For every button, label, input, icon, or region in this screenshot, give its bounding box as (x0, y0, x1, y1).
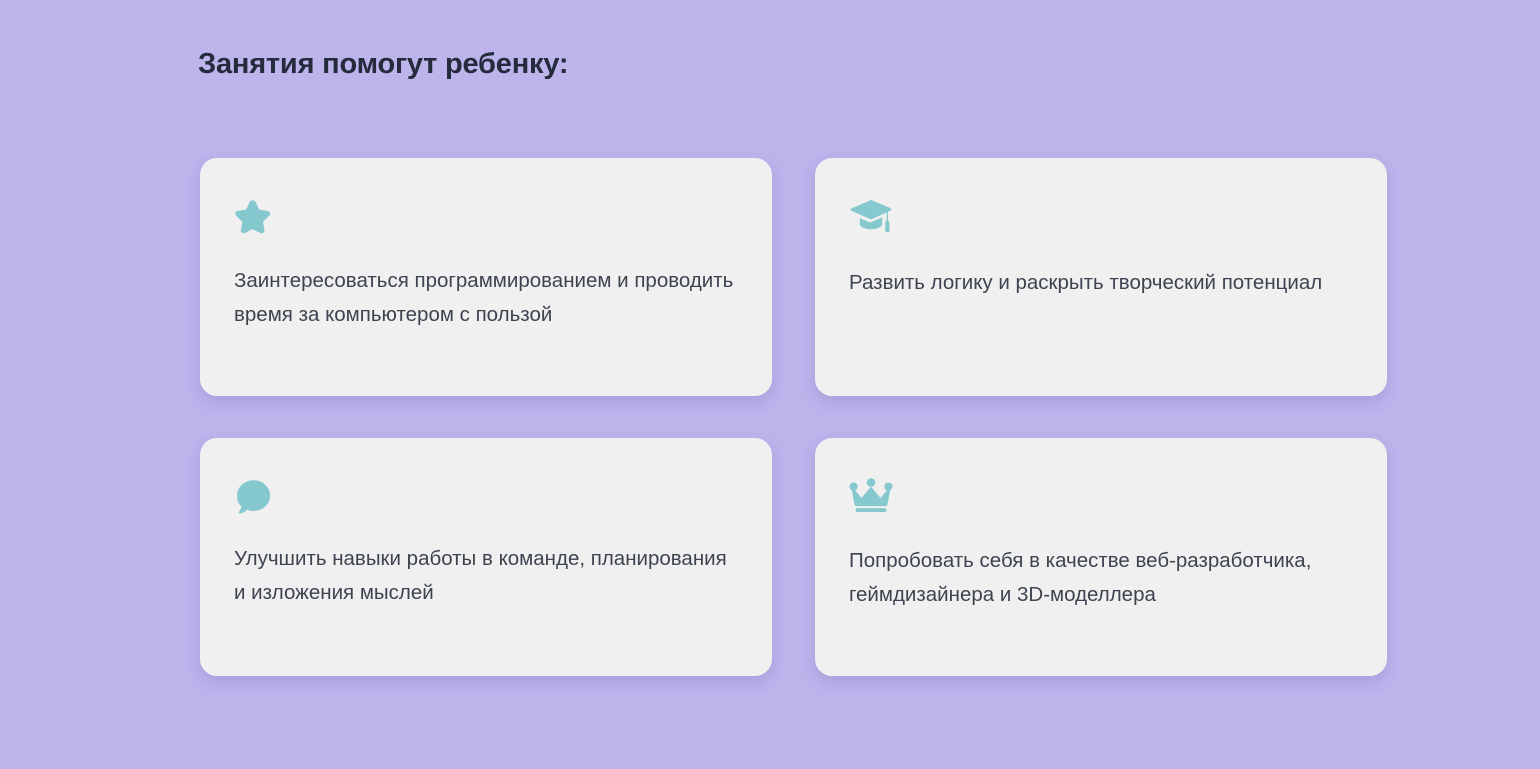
benefit-card-3[interactable]: Улучшить навыки работы в команде, планир… (200, 438, 772, 676)
benefits-section: Занятия помогут ребенку: Заинтересоватьс… (0, 0, 1540, 769)
benefit-card-1[interactable]: Заинтересоваться программированием и про… (200, 158, 772, 396)
benefits-card-grid: Заинтересоваться программированием и про… (200, 158, 1385, 676)
graduation-cap-icon (849, 198, 1351, 238)
star-icon (234, 198, 736, 238)
benefit-card-text: Развить логику и раскрыть творческий пот… (849, 266, 1351, 300)
page-title: Занятия помогут ребенку: (198, 48, 568, 81)
benefit-card-text: Улучшить навыки работы в команде, планир… (234, 542, 736, 610)
speech-bubble-icon (234, 478, 736, 518)
benefit-card-4[interactable]: Попробовать себя в качестве веб-разработ… (815, 438, 1387, 676)
benefit-card-text: Заинтересоваться программированием и про… (234, 264, 736, 332)
benefit-card-2[interactable]: Развить логику и раскрыть творческий пот… (815, 158, 1387, 396)
crown-icon (849, 478, 1351, 518)
benefit-card-text: Попробовать себя в качестве веб-разработ… (849, 544, 1351, 612)
